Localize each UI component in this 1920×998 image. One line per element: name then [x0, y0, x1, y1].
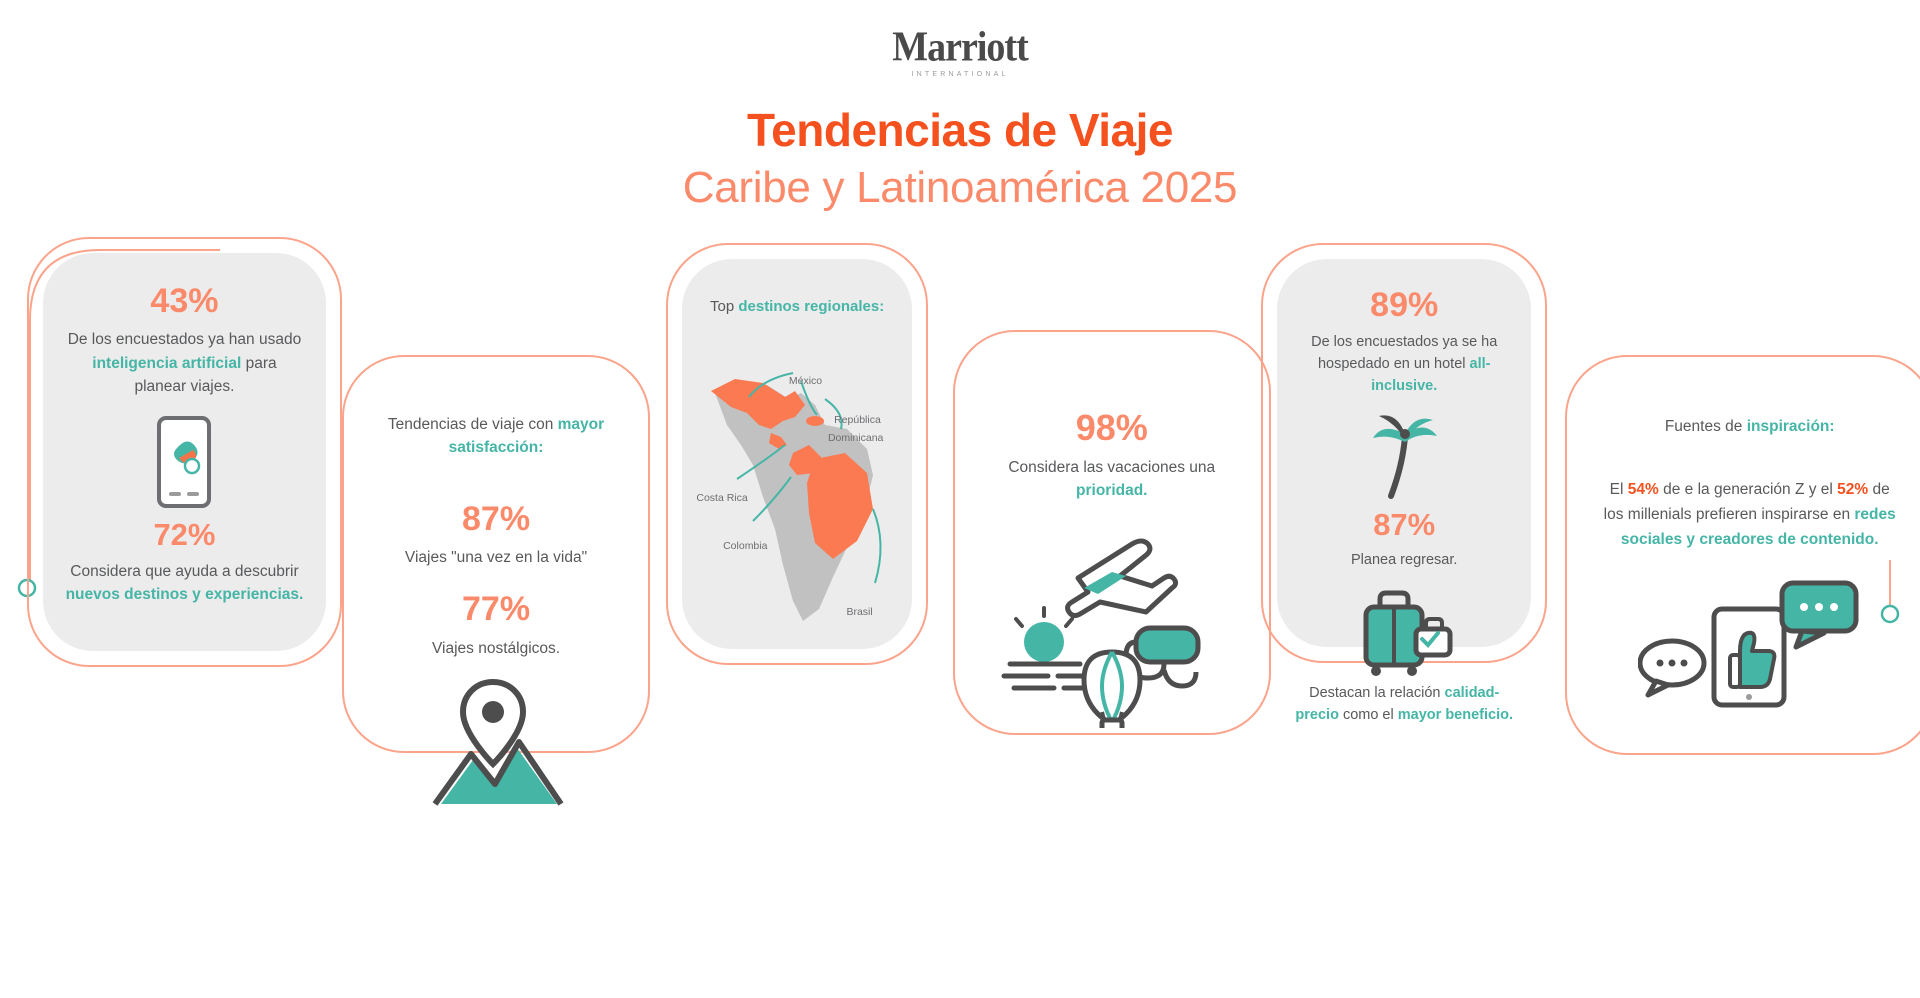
- insp-title-highlight: inspiración:: [1747, 418, 1835, 435]
- latam-map: México República Dominicana Costa Rica C…: [694, 333, 900, 633]
- palm-tree-icon: [1365, 414, 1443, 500]
- insp-title-pre: Fuentes de: [1665, 418, 1747, 435]
- vac-text-pre: Considera las vacaciones una: [1008, 459, 1215, 476]
- stat-43: 43%: [150, 283, 218, 320]
- page-title: Tendencias de Viaje: [0, 103, 1920, 157]
- card-allinclusive: 89% De los encuestados ya se ha hospedad…: [1261, 243, 1547, 663]
- card-ai-text-2: Considera que ayuda a descubrir nuevos d…: [65, 560, 304, 607]
- dest-title-pre: Top: [710, 298, 738, 315]
- marriott-logo: Marriott INTERNATIONAL: [892, 28, 1027, 78]
- ai5b-highlight-2: mayor beneficio.: [1398, 707, 1513, 723]
- card-ai: 43% De los encuestados ya han usado inte…: [27, 237, 342, 667]
- ai2-text-pre: Considera que ayuda a descubrir: [70, 563, 298, 580]
- ai5b-pre: Destacan la relación: [1309, 685, 1444, 701]
- card-ai-text-1: De los encuestados ya han usado intelige…: [65, 328, 304, 398]
- map-label-republica: República: [834, 414, 881, 426]
- insp-p1: El: [1610, 481, 1628, 498]
- stat-87-return: 87%: [1373, 508, 1435, 542]
- card-satisfaction: Tendencias de viaje con mayor satisfacci…: [342, 355, 650, 753]
- map-label-mexico: México: [789, 375, 822, 387]
- insp-p2: de e la generación Z y el: [1659, 481, 1837, 498]
- infographic-page: Marriott INTERNATIONAL Tendencias de Via…: [0, 0, 1920, 998]
- social-devices-icon: [1638, 579, 1862, 709]
- stat-77-nostalgia: 77%: [462, 591, 530, 628]
- map-pin-mountain-icon: [421, 676, 571, 811]
- luggage-icon: [1350, 587, 1458, 679]
- satisfaction-text-1: Viajes "una vez en la vida": [405, 546, 587, 569]
- card-inspiration: Fuentes de inspiración: El 54% de e la g…: [1565, 355, 1920, 755]
- inspiration-body: El 54% de e la generación Z y el 52% de …: [1603, 478, 1897, 552]
- dest-title-highlight: destinos regionales:: [738, 298, 884, 315]
- stat-98: 98%: [1076, 408, 1148, 448]
- logo-subtext: INTERNATIONAL: [892, 71, 1027, 78]
- header: Marriott INTERNATIONAL Tendencias de Via…: [0, 0, 1920, 213]
- map-label-colombia: Colombia: [723, 540, 767, 552]
- destinations-title: Top destinos regionales:: [710, 298, 884, 315]
- stat-89: 89%: [1370, 287, 1438, 324]
- smartphone-ai-icon: [147, 414, 221, 510]
- stat-87-lifetime: 87%: [462, 501, 530, 538]
- allinclusive-text-2: Planea regresar.: [1351, 550, 1457, 572]
- satisfaction-lead: Tendencias de viaje con mayor satisfacci…: [380, 413, 612, 460]
- map-label-brasil: Brasil: [846, 606, 872, 618]
- ai5b-mid: como el: [1339, 707, 1398, 723]
- ai-text-pre: De los encuestados ya han usado: [68, 331, 302, 348]
- satisfaction-text-2: Viajes nostálgicos.: [432, 637, 560, 660]
- stat-52: 52%: [1837, 481, 1868, 498]
- sat-lead-pre: Tendencias de viaje con: [388, 416, 558, 433]
- allinclusive-text-3: Destacan la relación calidad-precio como…: [1293, 683, 1515, 727]
- vac-text-highlight: prioridad.: [1076, 482, 1147, 499]
- logo-wordmark: Marriott: [892, 26, 1027, 69]
- card-vacations: 98% Considera las vacaciones una priorid…: [953, 330, 1271, 735]
- stat-54: 54%: [1628, 481, 1659, 498]
- travel-collage-icon: [998, 518, 1226, 728]
- card-destinations: Top destinos regionales:: [666, 243, 928, 665]
- page-subtitle: Caribe y Latinoamérica 2025: [0, 163, 1920, 213]
- inspiration-title: Fuentes de inspiración:: [1665, 415, 1835, 438]
- vacations-text: Considera las vacaciones una prioridad.: [991, 456, 1233, 503]
- map-label-dominicana: Dominicana: [828, 432, 883, 444]
- ai-text-highlight: inteligencia artificial: [92, 355, 241, 372]
- stat-72: 72%: [153, 518, 215, 552]
- allinclusive-text-1: De los encuestados ya se ha hospedado en…: [1293, 332, 1515, 397]
- map-label-costa-rica: Costa Rica: [696, 492, 747, 504]
- ai2-text-highlight: nuevos destinos y experiencias.: [66, 586, 304, 603]
